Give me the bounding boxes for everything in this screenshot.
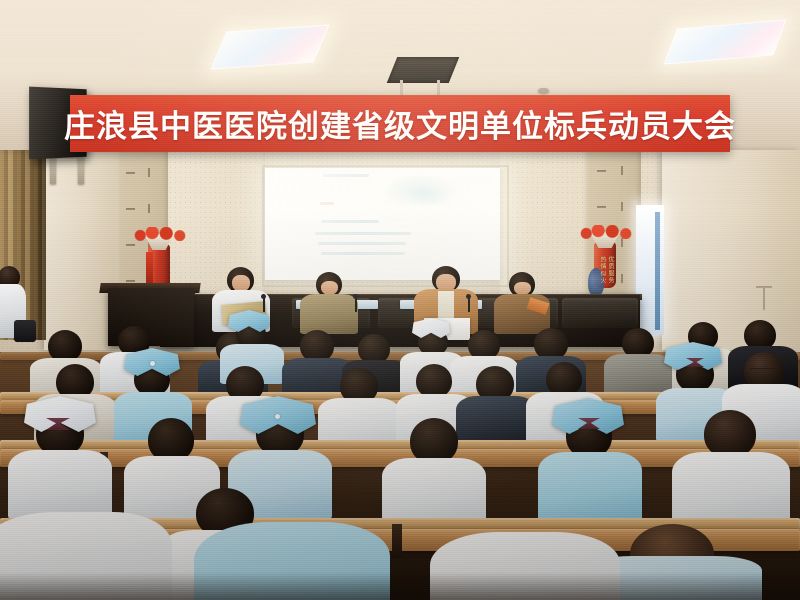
- ceiling-vent: [387, 57, 460, 83]
- microphone-3-head: [466, 294, 471, 299]
- decor-vase-right-banner-text: 优质服务 热情似火: [598, 256, 614, 292]
- microphone-1-head: [261, 294, 266, 299]
- microphone-2-stem: [355, 298, 357, 312]
- microphone-2-head: [353, 294, 358, 299]
- microphone-3-stem: [468, 298, 470, 312]
- meeting-hall-photograph: 优质服务 热情似火: [0, 0, 800, 600]
- head-table-chair-4: [562, 298, 638, 328]
- doorway-stripe: [655, 212, 660, 330]
- foreground-shadow: [0, 572, 800, 600]
- event-banner: 庄浪县中医医院创建省级文明单位标兵动员大会: [70, 95, 730, 152]
- projection-screen: [265, 168, 500, 280]
- event-banner-title: 庄浪县中医医院创建省级文明单位标兵动员大会: [64, 101, 736, 146]
- camera-bag-icon: [14, 320, 36, 342]
- bench-row-4-divider: [392, 524, 402, 558]
- wall-pillar-right: [662, 150, 800, 350]
- wall-hook-stem: [763, 288, 765, 310]
- decor-vase-right: 优质服务 热情似火: [586, 226, 632, 296]
- smoke-detector: [538, 88, 549, 93]
